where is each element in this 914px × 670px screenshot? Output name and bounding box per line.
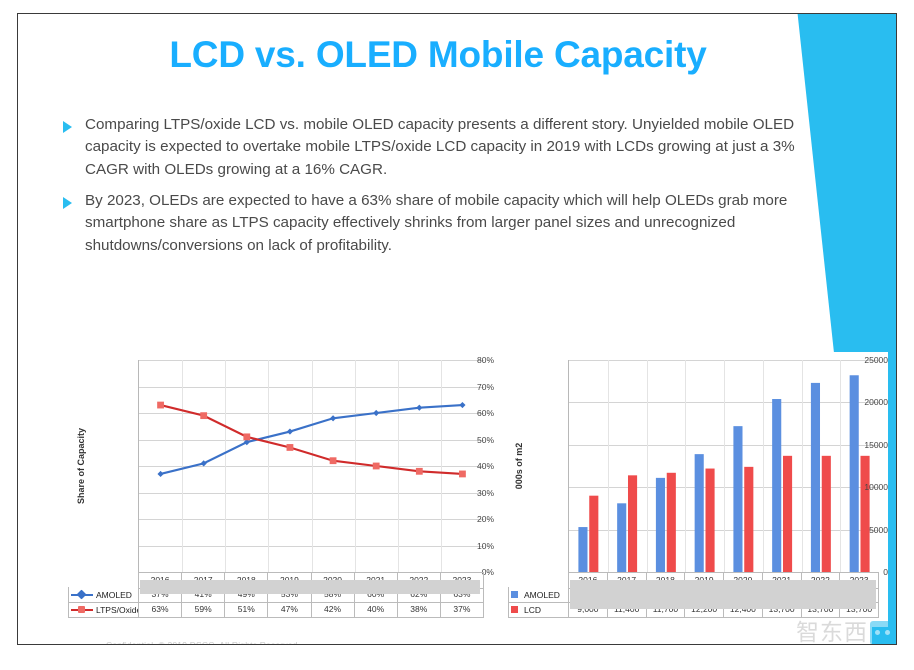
series-marker xyxy=(287,428,293,434)
table-cell: 47% xyxy=(268,602,311,617)
series-marker xyxy=(459,471,466,478)
bar xyxy=(695,454,704,572)
axis-tick-y: 20000 xyxy=(830,397,888,407)
legend-marker-icon xyxy=(71,605,93,614)
bar xyxy=(783,456,792,572)
triangle-right-icon xyxy=(63,197,72,209)
series-marker xyxy=(200,412,207,419)
bar xyxy=(705,469,714,572)
bullet-text: By 2023, OLEDs are expected to have a 63… xyxy=(85,190,833,257)
legend-marker-icon xyxy=(71,590,93,599)
page-title: LCD vs. OLED Mobile Capacity xyxy=(18,34,858,76)
watermark-text: 智东西 xyxy=(796,620,868,645)
bar xyxy=(628,475,637,572)
list-item: Comparing LTPS/oxide LCD vs. mobile OLED… xyxy=(63,114,833,181)
bar xyxy=(744,467,753,572)
bar xyxy=(822,456,831,572)
legend-entry: AMOLED xyxy=(509,587,569,602)
series-marker xyxy=(330,415,336,421)
legend-entry: LCD xyxy=(509,602,569,617)
axis-tick-y: 5000 xyxy=(830,525,888,535)
selection-overlay xyxy=(570,580,876,609)
table-cell: 40% xyxy=(355,602,398,617)
series-marker xyxy=(287,444,294,451)
table-cell: 63% xyxy=(139,602,182,617)
bar xyxy=(860,456,869,572)
watermark-logo-icon xyxy=(870,621,897,645)
bar xyxy=(589,496,598,572)
axis-tick-y: 40% xyxy=(426,461,494,471)
bullet-list: Comparing LTPS/oxide LCD vs. mobile OLED… xyxy=(63,114,833,266)
table-cell: 42% xyxy=(312,602,355,617)
bullet-marker xyxy=(63,190,85,257)
table-cell: 59% xyxy=(182,602,225,617)
chart-series-layer xyxy=(569,360,879,572)
axis-label-y: 000s of m2 xyxy=(514,443,524,490)
axis-label-y: Share of Capacity xyxy=(76,428,86,504)
bar xyxy=(772,399,781,572)
bar xyxy=(811,383,820,572)
legend-label: AMOLED xyxy=(524,590,560,600)
series-marker xyxy=(157,402,164,409)
bullet-text: Comparing LTPS/oxide LCD vs. mobile OLED… xyxy=(85,114,833,181)
axis-tick-y: 70% xyxy=(426,382,494,392)
bar xyxy=(667,473,676,572)
bar-chart-mobile-capacity: 000s of m2050001000015000200002500020162… xyxy=(506,352,888,627)
table-row: LTPS/Oxide63%59%51%47%42%40%38%37% xyxy=(68,602,484,618)
list-item: By 2023, OLEDs are expected to have a 63… xyxy=(63,190,833,257)
axis-tick-y: 50% xyxy=(426,435,494,445)
bullet-marker xyxy=(63,114,85,181)
series-marker xyxy=(373,410,379,416)
series-marker xyxy=(373,463,380,470)
axis-tick-y: 20% xyxy=(426,514,494,524)
legend-label: LCD xyxy=(524,605,541,615)
table-cell: 38% xyxy=(398,602,441,617)
legend-entry: AMOLED xyxy=(69,587,139,602)
triangle-right-icon xyxy=(63,121,72,133)
legend-entry: LTPS/Oxide xyxy=(69,602,139,617)
table-cell: 51% xyxy=(225,602,268,617)
axis-tick-y: 10% xyxy=(426,541,494,551)
plot-area xyxy=(568,360,879,572)
legend-label: LTPS/Oxide xyxy=(96,605,139,615)
axis-tick-y: 10000 xyxy=(830,482,888,492)
table-cell: 37% xyxy=(441,602,484,617)
watermark: 智东西 zhidongxi xyxy=(796,620,897,645)
bar xyxy=(617,503,626,572)
series-marker xyxy=(157,471,163,477)
series-marker xyxy=(330,457,337,464)
axis-tick-y: 80% xyxy=(426,355,494,365)
series-marker xyxy=(243,433,250,440)
axis-tick-y: 30% xyxy=(426,488,494,498)
axis-tick-y: 15000 xyxy=(830,440,888,450)
footer-text: Confidential. © 2019 DSCC. All Rights Re… xyxy=(106,640,300,645)
slide-canvas: LCD vs. OLED Mobile Capacity Comparing L… xyxy=(17,13,897,645)
bar xyxy=(733,426,742,572)
selection-overlay xyxy=(140,580,480,594)
line-chart-share-of-capacity: Share of Capacity0%10%20%30%40%50%60%70%… xyxy=(66,352,494,627)
legend-label: AMOLED xyxy=(96,590,132,600)
legend-marker-icon xyxy=(511,606,518,613)
bar xyxy=(656,478,665,572)
bar xyxy=(578,527,587,572)
axis-tick-y: 60% xyxy=(426,408,494,418)
axis-tick-y: 25000 xyxy=(830,355,888,365)
legend-marker-icon xyxy=(511,591,518,598)
series-marker xyxy=(416,405,422,411)
series-marker xyxy=(416,468,423,475)
